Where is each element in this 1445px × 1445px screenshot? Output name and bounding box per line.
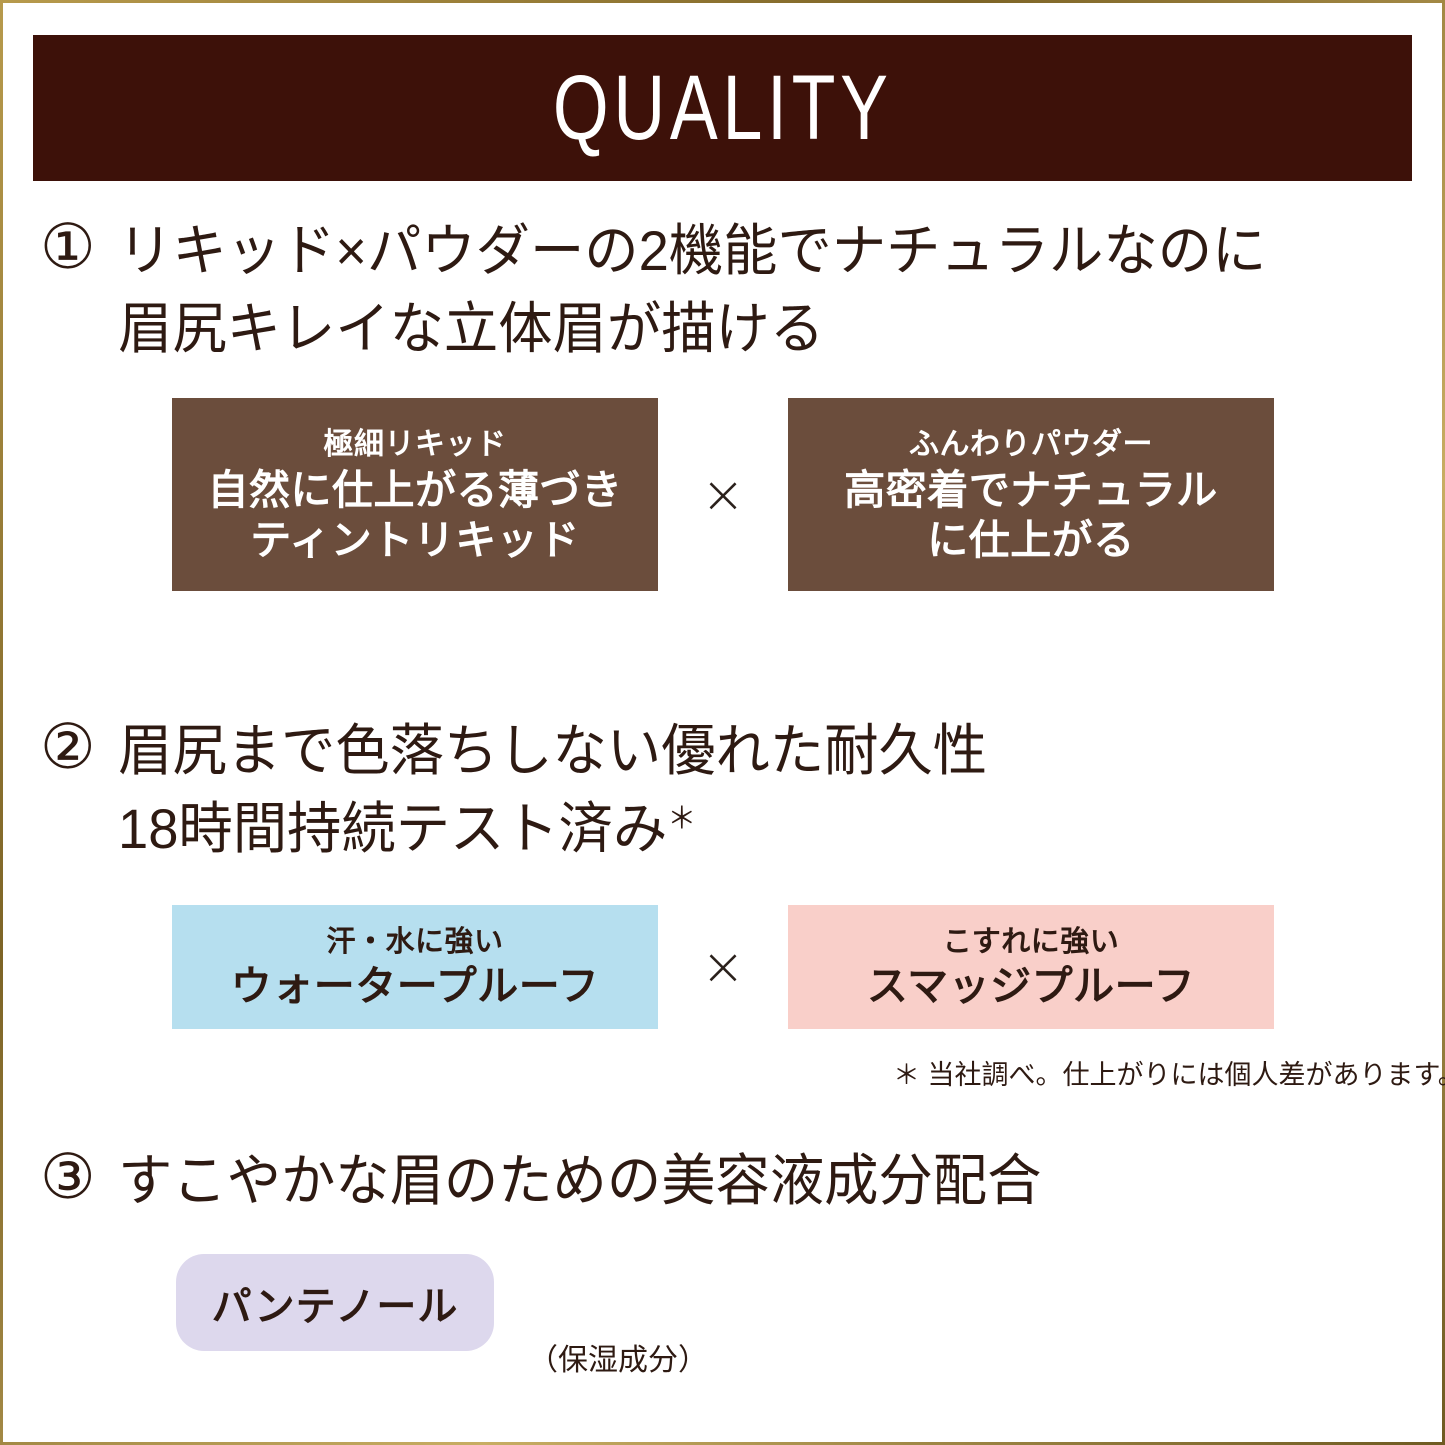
quality-banner: QUALITY — [33, 35, 1412, 181]
section-2-heading-text: 眉尻まで色落ちしない優れた耐久性 18時間持続テスト済み＊ — [118, 712, 987, 868]
feature-box-powder: ふんわりパウダー 高密着でナチュラル に仕上がる — [788, 398, 1274, 591]
circled-number-3-icon: ③ — [40, 1142, 118, 1212]
section-1-heading: ① リキッド×パウダーの2機能でナチュラルなのに 眉尻キレイな立体眉が描ける — [40, 212, 1302, 368]
feature-box-smudgeproof: こすれに強い スマッジプルーフ — [788, 905, 1274, 1029]
section-1-feature-row: 極細リキッド 自然に仕上がる薄づき ティントリキッド × ふんわりパウダー 高密… — [172, 398, 1274, 591]
footnote-marker: ＊ — [667, 802, 696, 835]
section-2-feature-row: 汗・水に強い ウォータープルーフ × こすれに強い スマッジプルーフ — [172, 905, 1274, 1029]
section-3-heading: ③ すこやかな眉のための美容液成分配合 — [40, 1142, 1070, 1220]
feature-box-liquid-line-1: 自然に仕上がる薄づき — [208, 465, 623, 515]
section-3-heading-text: すこやかな眉のための美容液成分配合 — [118, 1142, 1041, 1220]
ingredient-pill-panthenol: パンテノール — [176, 1254, 494, 1351]
feature-box-powder-line-2: に仕上がる — [927, 515, 1135, 565]
feature-box-liquid-line-2: ティントリキッド — [250, 515, 580, 565]
circled-number-2-icon: ② — [40, 712, 118, 782]
feature-box-liquid-subtitle: 極細リキッド — [324, 425, 507, 465]
feature-box-liquid: 極細リキッド 自然に仕上がる薄づき ティントリキッド — [172, 398, 658, 591]
quality-infographic-page: QUALITY ① リキッド×パウダーの2機能でナチュラルなのに 眉尻キレイな立… — [0, 0, 1445, 1445]
section-2-heading-line-2-text: 18時間持続テスト済み — [118, 797, 667, 860]
feature-box-waterproof: 汗・水に強い ウォータープルーフ — [172, 905, 658, 1029]
section-2-heading: ② 眉尻まで色落ちしない優れた耐久性 18時間持続テスト済み＊ — [40, 712, 1014, 868]
feature-box-smudgeproof-subtitle: こすれに強い — [943, 923, 1119, 961]
multiply-icon-2: × — [658, 941, 788, 993]
multiply-icon-1: × — [658, 469, 788, 521]
feature-box-waterproof-subtitle: 汗・水に強い — [326, 923, 503, 961]
section-1-heading-line-1: リキッド×パウダーの2機能でナチュラルなのに — [118, 212, 1266, 290]
section-1-heading-text: リキッド×パウダーの2機能でナチュラルなのに 眉尻キレイな立体眉が描ける — [118, 212, 1266, 368]
section-3-heading-line-1: すこやかな眉のための美容液成分配合 — [118, 1142, 1041, 1220]
section-2-heading-line-2: 18時間持続テスト済み＊ — [118, 790, 987, 868]
banner-title: QUALITY — [553, 62, 893, 154]
section-2-heading-line-1: 眉尻まで色落ちしない優れた耐久性 — [118, 712, 987, 790]
feature-box-smudgeproof-title: スマッジプルーフ — [867, 961, 1195, 1011]
ingredient-pill-caption: （保湿成分） — [528, 1342, 708, 1380]
circled-number-1-icon: ① — [40, 212, 118, 282]
footnote-text: ＊ 当社調べ。仕上がりには個人差があります。 — [893, 1057, 1413, 1093]
feature-box-waterproof-title: ウォータープルーフ — [231, 961, 600, 1011]
feature-box-powder-line-1: 高密着でナチュラル — [844, 465, 1218, 515]
section-1-heading-line-2: 眉尻キレイな立体眉が描ける — [118, 290, 1266, 368]
feature-box-powder-subtitle: ふんわりパウダー — [909, 425, 1153, 465]
